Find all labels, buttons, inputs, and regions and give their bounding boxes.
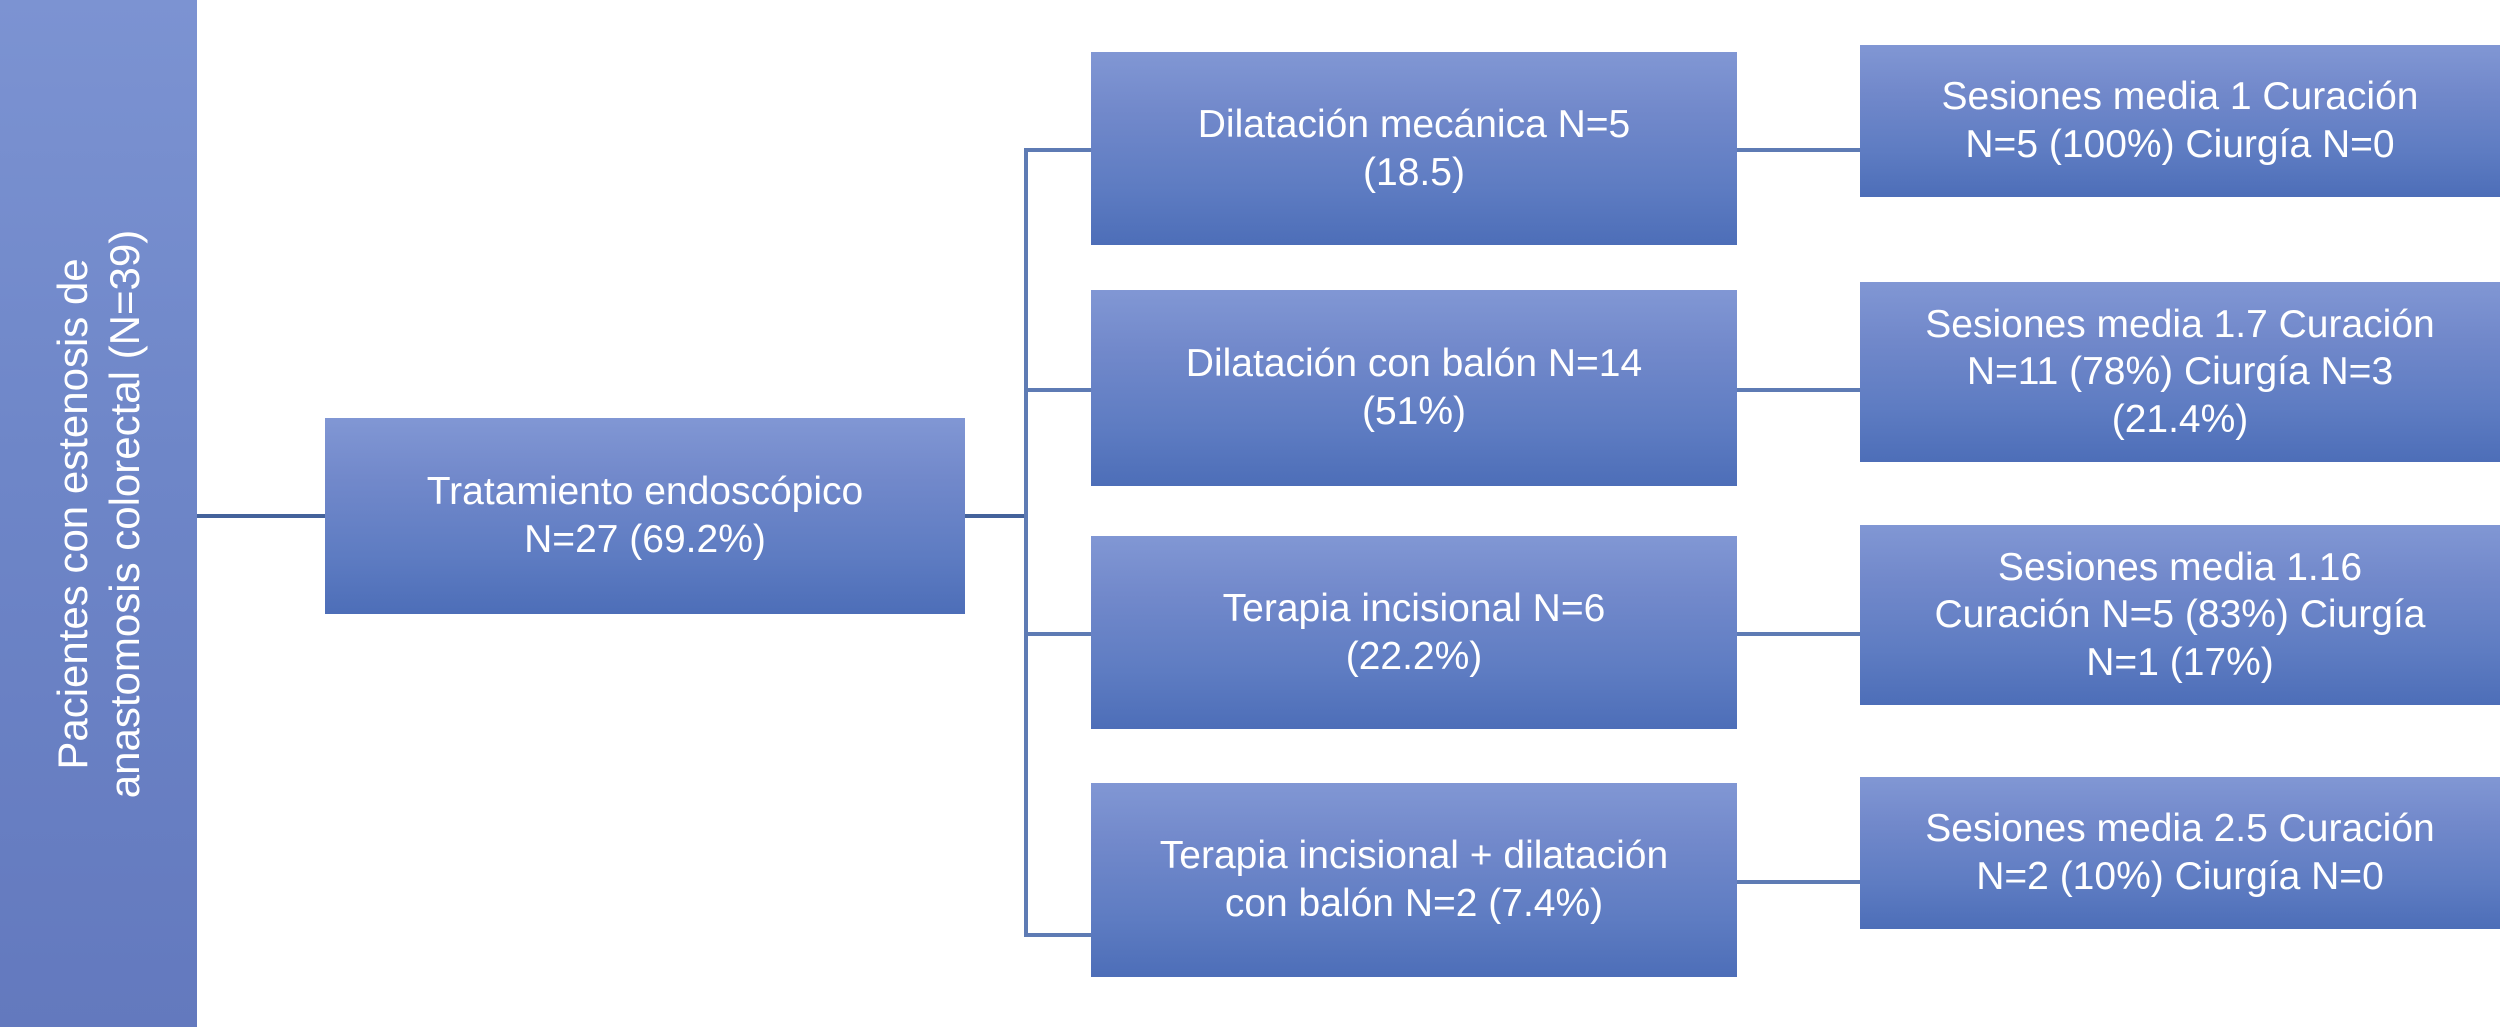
node-outcome-1-text: Sesiones media 1 Curación N=5 (100%) Ciu… bbox=[1870, 73, 2490, 168]
connector-mid-to-right-1 bbox=[1737, 148, 1862, 152]
connector-trunk-vertical bbox=[1024, 148, 1028, 937]
node-treatment-1-line-2: (18.5) bbox=[1101, 149, 1727, 197]
connector-branch-4 bbox=[1024, 933, 1093, 937]
node-treatment-4[interactable]: Terapia incisional + dilatación con baló… bbox=[1091, 783, 1737, 977]
node-outcome-4-line-1: Sesiones media 2.5 Curación bbox=[1870, 805, 2490, 853]
node-outcome-3-line-1: Sesiones media 1.16 bbox=[1870, 544, 2490, 592]
node-outcome-3[interactable]: Sesiones media 1.16 Curación N=5 (83%) C… bbox=[1860, 525, 2500, 705]
node-outcome-3-line-2: Curación N=5 (83%) Ciurgía bbox=[1870, 591, 2490, 639]
node-root-treatment[interactable]: Tratamiento endoscópico N=27 (69.2%) bbox=[325, 418, 965, 614]
node-outcome-1-line-2: N=5 (100%) Ciurgía N=0 bbox=[1870, 121, 2490, 169]
connector-branch-2 bbox=[1024, 388, 1093, 392]
sidebar-banner-label: Pacientes con estenosis de anastomosis c… bbox=[46, 229, 150, 797]
node-treatment-2-line-2: (51%) bbox=[1101, 388, 1727, 436]
node-treatment-3-line-1: Terapia incisional N=6 bbox=[1101, 585, 1727, 633]
node-outcome-2[interactable]: Sesiones media 1.7 Curación N=11 (78%) C… bbox=[1860, 282, 2500, 462]
node-outcome-2-line-1: Sesiones media 1.7 Curación bbox=[1870, 301, 2490, 349]
flowchart-canvas: Pacientes con estenosis de anastomosis c… bbox=[0, 0, 2500, 1027]
node-outcome-4[interactable]: Sesiones media 2.5 Curación N=2 (10%) Ci… bbox=[1860, 777, 2500, 929]
node-outcome-2-line-2: N=11 (78%) Ciurgía N=3 bbox=[1870, 348, 2490, 396]
connector-root-stem bbox=[965, 514, 1028, 518]
connector-sidebar-to-root bbox=[197, 514, 327, 518]
node-treatment-4-line-2: con balón N=2 (7.4%) bbox=[1101, 880, 1727, 928]
node-root-text: Tratamiento endoscópico N=27 (69.2%) bbox=[335, 468, 955, 563]
sidebar-banner-line-1: Pacientes con estenosis de bbox=[46, 229, 98, 797]
node-treatment-3[interactable]: Terapia incisional N=6 (22.2%) bbox=[1091, 536, 1737, 729]
connector-mid-to-right-3 bbox=[1737, 632, 1862, 636]
node-outcome-3-text: Sesiones media 1.16 Curación N=5 (83%) C… bbox=[1870, 544, 2490, 687]
node-treatment-4-text: Terapia incisional + dilatación con baló… bbox=[1101, 832, 1727, 927]
node-treatment-1-line-1: Dilatación mecánica N=5 bbox=[1101, 101, 1727, 149]
node-outcome-2-text: Sesiones media 1.7 Curación N=11 (78%) C… bbox=[1870, 301, 2490, 444]
node-treatment-4-line-1: Terapia incisional + dilatación bbox=[1101, 832, 1727, 880]
node-outcome-1-line-1: Sesiones media 1 Curación bbox=[1870, 73, 2490, 121]
node-treatment-2-text: Dilatación con balón N=14 (51%) bbox=[1101, 340, 1727, 435]
node-treatment-2-line-1: Dilatación con balón N=14 bbox=[1101, 340, 1727, 388]
node-outcome-4-text: Sesiones media 2.5 Curación N=2 (10%) Ci… bbox=[1870, 805, 2490, 900]
node-outcome-4-line-2: N=2 (10%) Ciurgía N=0 bbox=[1870, 853, 2490, 901]
node-treatment-3-line-2: (22.2%) bbox=[1101, 633, 1727, 681]
node-treatment-1[interactable]: Dilatación mecánica N=5 (18.5) bbox=[1091, 52, 1737, 245]
node-treatment-2[interactable]: Dilatación con balón N=14 (51%) bbox=[1091, 290, 1737, 486]
connector-branch-1 bbox=[1024, 148, 1093, 152]
sidebar-banner: Pacientes con estenosis de anastomosis c… bbox=[0, 0, 197, 1027]
node-treatment-3-text: Terapia incisional N=6 (22.2%) bbox=[1101, 585, 1727, 680]
connector-mid-to-right-2 bbox=[1737, 388, 1862, 392]
node-outcome-1[interactable]: Sesiones media 1 Curación N=5 (100%) Ciu… bbox=[1860, 45, 2500, 197]
connector-branch-3 bbox=[1024, 632, 1093, 636]
node-root-line-1: Tratamiento endoscópico bbox=[335, 468, 955, 516]
connector-mid-to-right-4 bbox=[1737, 880, 1862, 884]
sidebar-banner-line-2: anastomosis colorectal (N=39) bbox=[99, 229, 151, 797]
node-treatment-1-text: Dilatación mecánica N=5 (18.5) bbox=[1101, 101, 1727, 196]
node-outcome-3-line-3: N=1 (17%) bbox=[1870, 639, 2490, 687]
node-outcome-2-line-3: (21.4%) bbox=[1870, 396, 2490, 444]
node-root-line-2: N=27 (69.2%) bbox=[335, 516, 955, 564]
